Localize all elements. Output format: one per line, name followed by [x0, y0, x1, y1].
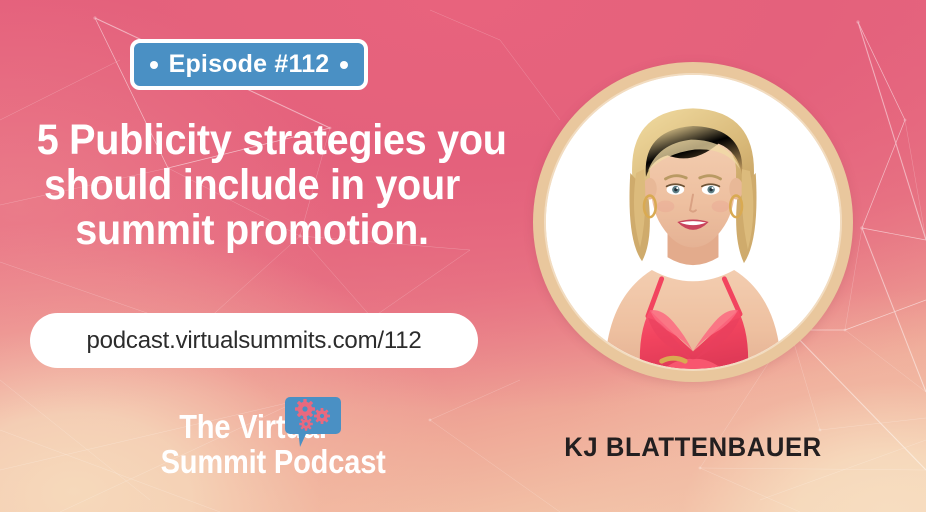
guest-portrait-photo	[546, 75, 840, 369]
episode-title-line-1: 5 Publicity strategies you	[37, 118, 468, 163]
badge-dot-right-icon	[340, 61, 348, 69]
episode-title-line-3: summit promotion.	[37, 208, 468, 253]
episode-badge: Episode #112	[130, 39, 368, 90]
podcast-logo: The Virtual Summit Podcast	[148, 393, 358, 481]
guest-portrait-ring	[533, 62, 853, 382]
episode-title-line-2: should include in your	[37, 163, 468, 208]
episode-badge-label: Episode #112	[169, 50, 330, 79]
episode-title: 5 Publicity strategies you should includ…	[37, 118, 468, 253]
badge-dot-left-icon	[150, 61, 158, 69]
guest-name: KJ BLATTENBAUER	[541, 432, 845, 463]
speech-bubble-gears-icon	[284, 393, 342, 451]
guest-photo-illustration	[546, 75, 840, 369]
episode-url-text: podcast.virtualsummits.com/112	[86, 327, 421, 355]
episode-cover-graphic: Episode #112 5 Publicity strategies you …	[0, 0, 926, 512]
episode-url-pill[interactable]: podcast.virtualsummits.com/112	[30, 313, 478, 368]
guest-portrait-inner-ring	[544, 73, 842, 371]
